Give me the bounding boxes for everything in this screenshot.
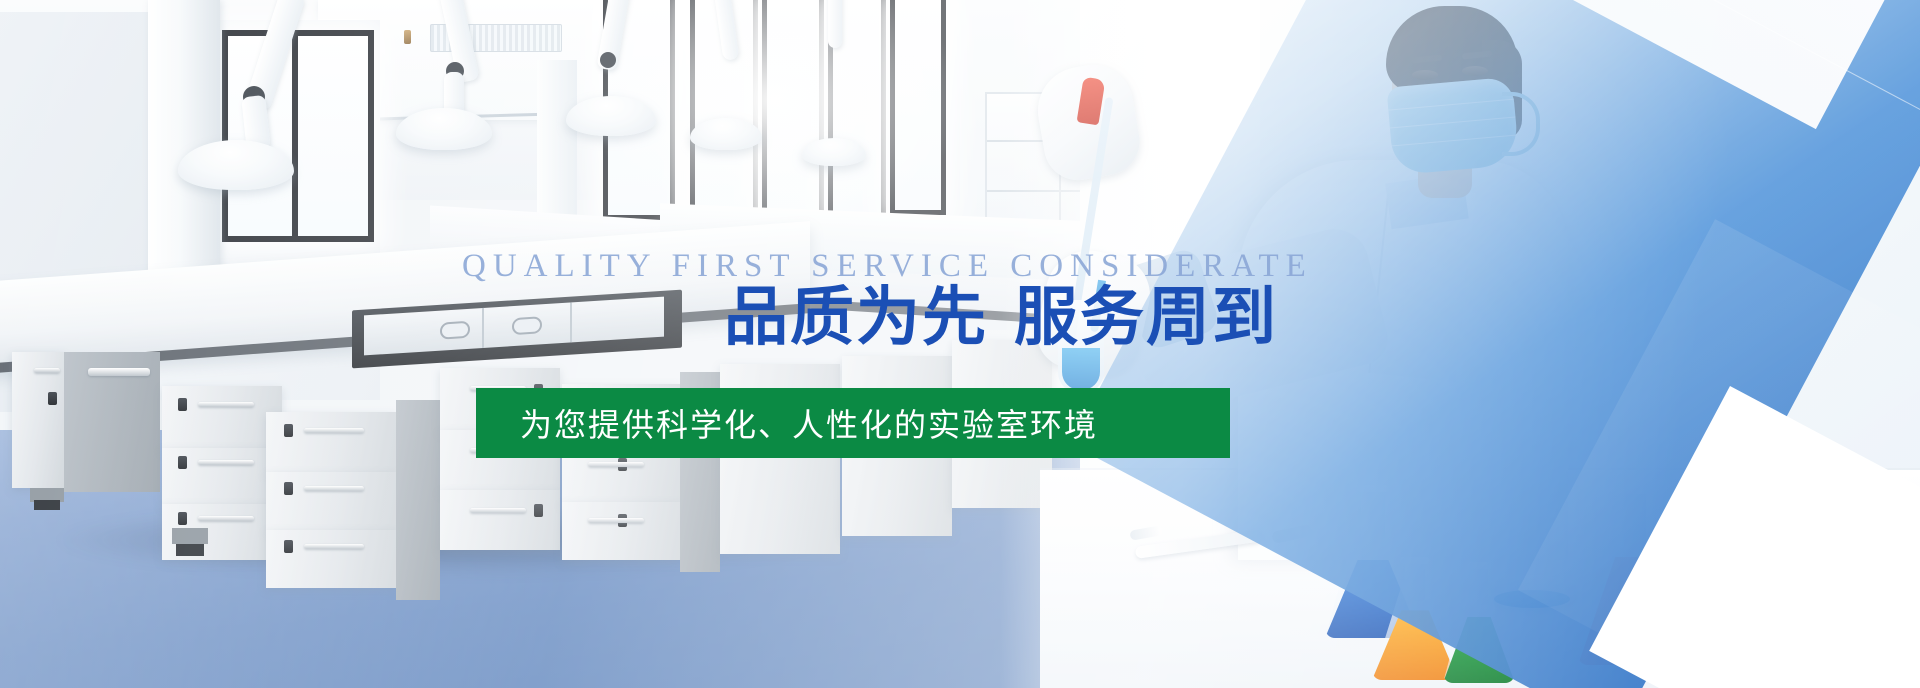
banner-headline: 品质为先服务周到 bbox=[724, 286, 1278, 350]
banner-eyebrow-english: QUALITY FIRST SERVICE CONSIDERATE bbox=[462, 248, 1313, 285]
hero-banner: QUALITY FIRST SERVICE CONSIDERATE 品质为先服务… bbox=[0, 0, 1920, 688]
headline-part-two: 服务周到 bbox=[1014, 281, 1278, 355]
banner-copy: QUALITY FIRST SERVICE CONSIDERATE 品质为先服务… bbox=[0, 0, 1920, 688]
banner-subtitle-text: 为您提供科学化、人性化的实验室环境 bbox=[520, 400, 1098, 446]
banner-subtitle-bar: 为您提供科学化、人性化的实验室环境 bbox=[476, 388, 1230, 458]
headline-part-one: 品质为先 bbox=[724, 281, 988, 355]
